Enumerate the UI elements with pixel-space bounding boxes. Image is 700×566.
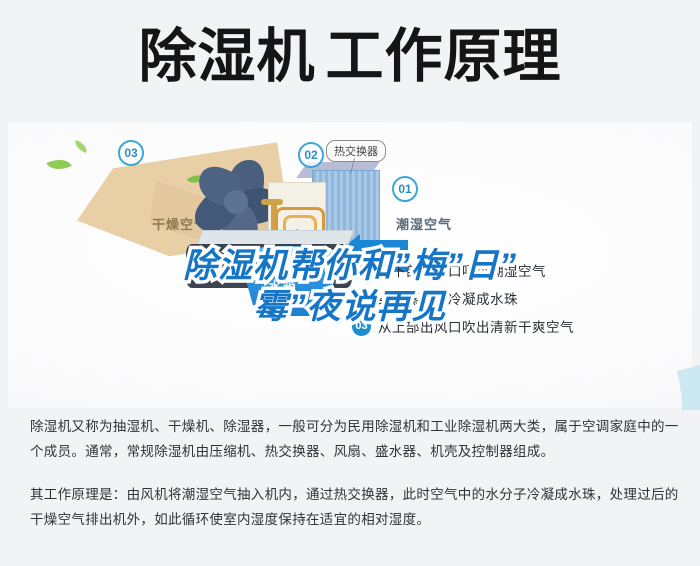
fan-hub [224, 190, 248, 214]
body-copy: 除湿机又称为抽湿机、干燥机、除湿器，一般可分为民用除湿机和工业除湿机两大类，属于… [30, 414, 680, 532]
list-item: 03 从上部出风口吹出清新干爽空气 [352, 312, 692, 340]
heat-exchanger-callout: 热交换器 [326, 140, 386, 162]
step-number: 03 [352, 317, 371, 336]
badge-02-heat-exchanger: 02 [298, 142, 324, 168]
page-title-part1: 除湿机 [138, 24, 315, 89]
step-text: 经过蒸发器冷凝成水珠 [378, 288, 518, 308]
step-text: 从上部出风口吹出清新干爽空气 [378, 316, 574, 336]
step-text: 由下部进风口吸进潮湿空气 [378, 260, 546, 280]
diagram-illustration: 干燥空气 03 ▲ ▶ ▼ [0, 118, 700, 410]
page-title: 除湿机工作原理 [0, 26, 700, 88]
humid-air-label: 潮湿空气 [396, 214, 452, 233]
refrigerant-pipe [261, 199, 283, 205]
title-band: 除湿机工作原理 [0, 0, 700, 118]
step-number: 01 [352, 261, 371, 280]
paragraph-2: 其工作原理是：由风机将潮湿空气抽入机内，通过热交换器，此时空气中的水分子冷凝成水… [30, 482, 680, 532]
water-tank-label: 水箱 [268, 276, 298, 295]
step-number: 02 [352, 289, 371, 308]
list-item: 01 由下部进风口吸进潮湿空气 [352, 256, 692, 284]
paragraph-1: 除湿机又称为抽湿机、干燥机、除湿器，一般可分为民用除湿机和工业除湿机两大类，属于… [30, 414, 680, 464]
badge-03-dry-air: 03 [118, 140, 144, 166]
steps-list: 01 由下部进风口吸进潮湿空气 02 经过蒸发器冷凝成水珠 03 从上部出风口吹… [352, 256, 692, 340]
infographic-page: 除湿机工作原理 干燥空气 03 [0, 0, 700, 566]
badge-01-humid-air: 01 [392, 176, 418, 202]
page-title-part2: 工作原理 [326, 24, 562, 89]
list-item: 02 经过蒸发器冷凝成水珠 [352, 284, 692, 312]
water-tank-rim [238, 246, 342, 262]
